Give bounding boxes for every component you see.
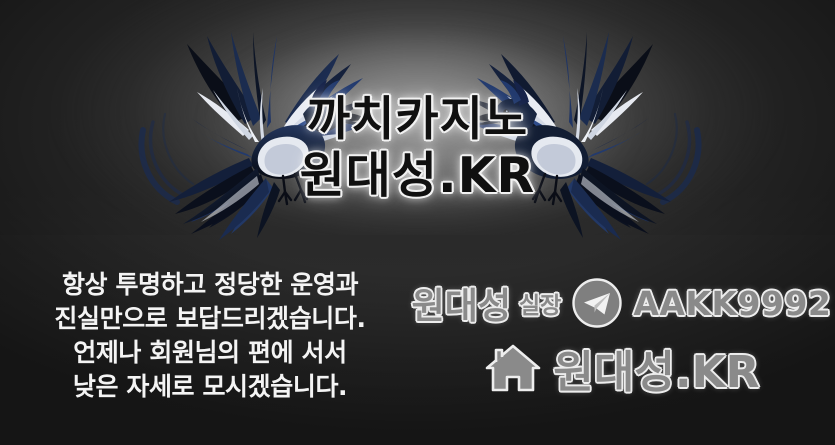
website-domain[interactable]: 원대성.KR <box>553 336 759 400</box>
contact-block: 원대성 실장 AAKK9992 원대성.KR <box>408 272 835 404</box>
brand-logo: 까치카지노 원대성.KR <box>0 96 835 200</box>
home-icon[interactable] <box>483 340 543 396</box>
telegram-contact-row: 원대성 실장 AAKK9992 <box>408 272 835 334</box>
slogan-block: 항상 투명하고 정당한 운영과 진실만으로 보답드리겠습니다. 언제나 회원님의… <box>10 268 410 404</box>
slogan-line-3: 언제나 회원님의 편에 서서 <box>10 336 410 370</box>
telegram-id[interactable]: AAKK9992 <box>633 284 831 323</box>
manager-title: 실장 <box>519 286 561 320</box>
slogan-line-4: 낮은 자세로 모시겠습니다. <box>10 370 410 404</box>
brand-logo-line-2: 원대성.KR <box>0 151 835 200</box>
website-row: 원대성.KR <box>408 332 835 404</box>
telegram-icon[interactable] <box>571 277 623 329</box>
manager-name: 원대성 <box>412 277 511 329</box>
slogan-line-2: 진실만으로 보답드리겠습니다. <box>10 302 410 336</box>
casino-promo-banner: 까치카지노 원대성.KR 항상 투명하고 정당한 운영과 진실만으로 보답드리겠… <box>0 0 835 445</box>
brand-logo-line-1: 까치카지노 <box>0 96 835 143</box>
slogan-line-1: 항상 투명하고 정당한 운영과 <box>10 268 410 302</box>
